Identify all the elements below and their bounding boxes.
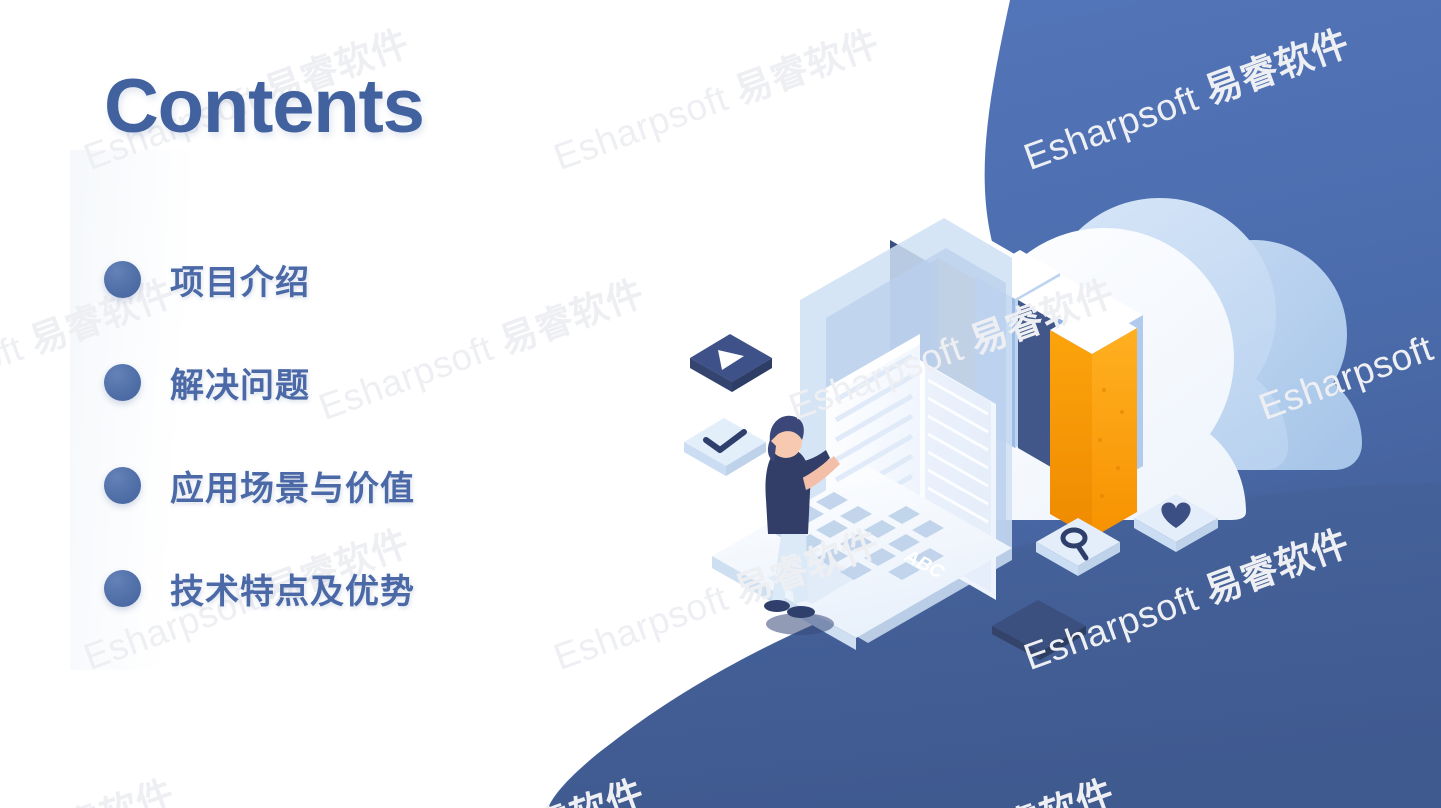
- toc-item-3[interactable]: 应用场景与价值: [0, 434, 560, 537]
- bullet-dot-icon: [104, 261, 141, 298]
- toc-item-label: 解决问题: [170, 358, 310, 407]
- presentation-slide: ABC Esharpsoft 易睿软件Esharpsoft 易睿软件Esharp…: [0, 0, 1441, 808]
- toc-item-4[interactable]: 技术特点及优势: [0, 537, 560, 640]
- toc-item-label: 应用场景与价值: [170, 461, 415, 510]
- content-column: Contents 项目介绍 解决问题 应用场景与价值 技术特点及优势: [0, 0, 560, 808]
- toc-item-2[interactable]: 解决问题: [0, 331, 560, 434]
- toc-item-label: 技术特点及优势: [170, 564, 415, 613]
- table-of-contents: 项目介绍 解决问题 应用场景与价值 技术特点及优势: [0, 228, 560, 640]
- bullet-dot-icon: [104, 364, 141, 401]
- page-title: Contents: [104, 69, 424, 145]
- bullet-dot-icon: [104, 467, 141, 504]
- bullet-dot-icon: [104, 570, 141, 607]
- toc-item-label: 项目介绍: [170, 255, 310, 304]
- toc-item-1[interactable]: 项目介绍: [0, 228, 560, 331]
- book-tower-orange-2: [1050, 304, 1137, 538]
